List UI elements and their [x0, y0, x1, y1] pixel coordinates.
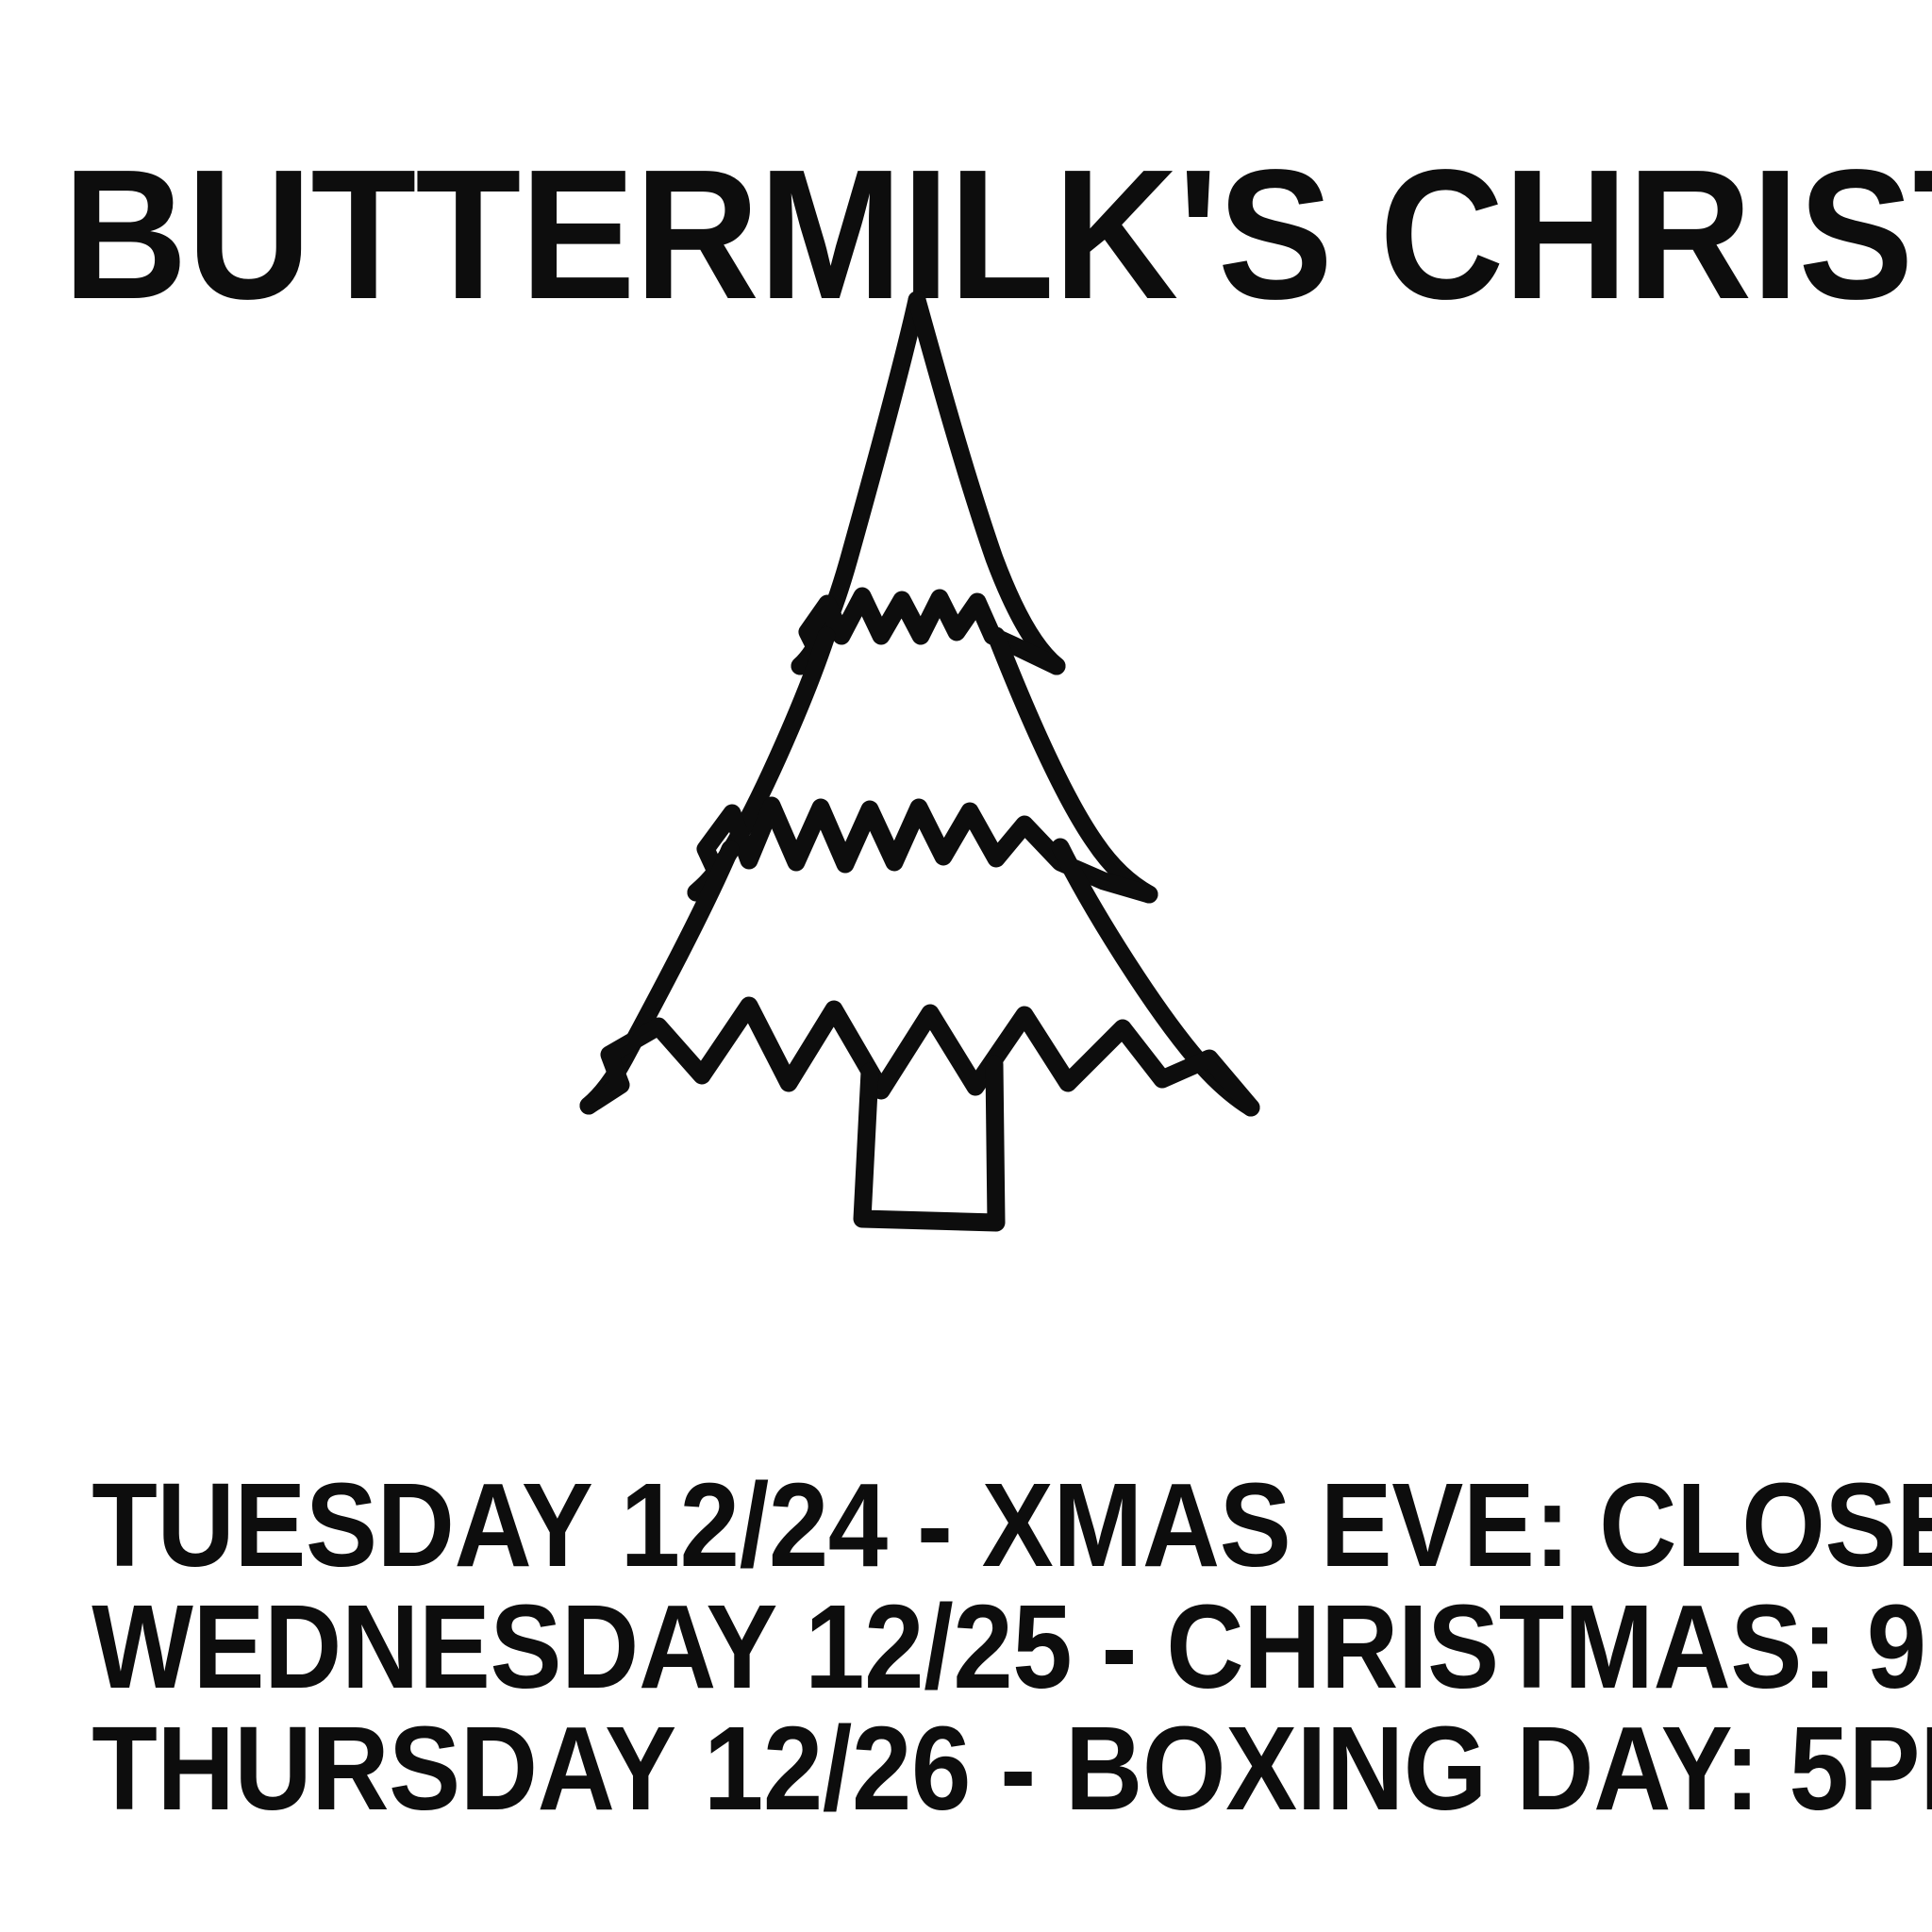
- hours-line-boxing-day: THURSDAY 12/26 - BOXING DAY: 5PM - 4AM: [92, 1707, 1840, 1829]
- hours-line-christmas-day: WEDNESDAY 12/25 - CHRISTMAS: 9PM - 4AM: [92, 1586, 1840, 1707]
- artwork-container: [0, 255, 1932, 1368]
- christmas-tree-icon: [570, 255, 1362, 1368]
- christmas-hours-poster: BUTTERMILK'S CHRISTMAS HOURS: [0, 0, 1932, 1932]
- hours-list: TUESDAY 12/24 - XMAS EVE: CLOSED WEDNESD…: [0, 1464, 1932, 1829]
- hours-line-xmas-eve: TUESDAY 12/24 - XMAS EVE: CLOSED: [92, 1464, 1840, 1586]
